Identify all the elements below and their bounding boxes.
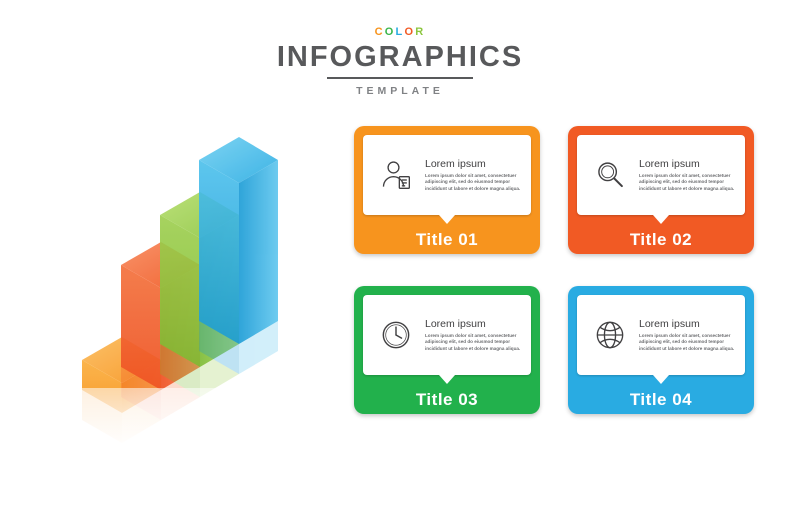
card-4-text: Lorem ipsum Lorem ipsum dolor sit amet, … [637, 318, 737, 352]
page-header: COLOR INFOGRAPHICS TEMPLATE [0, 26, 800, 97]
card-4-title: Title 04 [577, 390, 745, 410]
card-2-content-panel: Lorem ipsum Lorem ipsum dolor sit amet, … [577, 135, 745, 215]
card-1-title: Title 01 [363, 230, 531, 250]
user-profile-icon [369, 148, 423, 202]
card-3-lorem-heading: Lorem ipsum [425, 318, 523, 330]
chart-svg [60, 120, 360, 450]
page-title: INFOGRAPHICS [0, 41, 800, 73]
info-card-1[interactable]: Lorem ipsum Lorem ipsum dolor sit amet, … [354, 126, 540, 254]
title-underline-divider [327, 77, 473, 79]
magnifier-icon [583, 148, 637, 202]
info-card-2[interactable]: Lorem ipsum Lorem ipsum dolor sit amet, … [568, 126, 754, 254]
card-4-body-text: Lorem ipsum dolor sit amet, consectetuer… [639, 333, 737, 352]
info-card-3[interactable]: Lorem ipsum Lorem ipsum dolor sit amet, … [354, 286, 540, 414]
globe-icon [583, 308, 637, 362]
cards-grid: Lorem ipsum Lorem ipsum dolor sit amet, … [354, 126, 774, 426]
card-4-content-panel: Lorem ipsum Lorem ipsum dolor sit amet, … [577, 295, 745, 375]
card-3-body-text: Lorem ipsum dolor sit amet, consectetuer… [425, 333, 523, 352]
isometric-bar-chart [60, 120, 360, 450]
card-1-body-text: Lorem ipsum dolor sit amet, consectetuer… [425, 173, 523, 192]
card-2-body-text: Lorem ipsum dolor sit amet, consectetuer… [639, 173, 737, 192]
card-1-lorem-heading: Lorem ipsum [425, 158, 523, 170]
card-2-lorem-heading: Lorem ipsum [639, 158, 737, 170]
info-card-4[interactable]: Lorem ipsum Lorem ipsum dolor sit amet, … [568, 286, 754, 414]
card-3-content-panel: Lorem ipsum Lorem ipsum dolor sit amet, … [363, 295, 531, 375]
card-1-content-panel: Lorem ipsum Lorem ipsum dolor sit amet, … [363, 135, 531, 215]
clock-icon [369, 308, 423, 362]
color-letter-c: C [375, 26, 385, 38]
card-3-text: Lorem ipsum Lorem ipsum dolor sit amet, … [423, 318, 523, 352]
color-letter-r: R [415, 26, 425, 38]
card-3-title: Title 03 [363, 390, 531, 410]
page-subtitle: TEMPLATE [0, 85, 800, 97]
card-4-lorem-heading: Lorem ipsum [639, 318, 737, 330]
chart-bar-4 [199, 137, 278, 344]
card-1-text: Lorem ipsum Lorem ipsum dolor sit amet, … [423, 158, 523, 192]
color-letter-o1: O [385, 26, 396, 38]
card-2-text: Lorem ipsum Lorem ipsum dolor sit amet, … [637, 158, 737, 192]
card-2-title: Title 02 [577, 230, 745, 250]
color-word: COLOR [0, 26, 800, 38]
color-letter-o2: O [404, 26, 415, 38]
chart-reflection-fade [60, 388, 300, 450]
